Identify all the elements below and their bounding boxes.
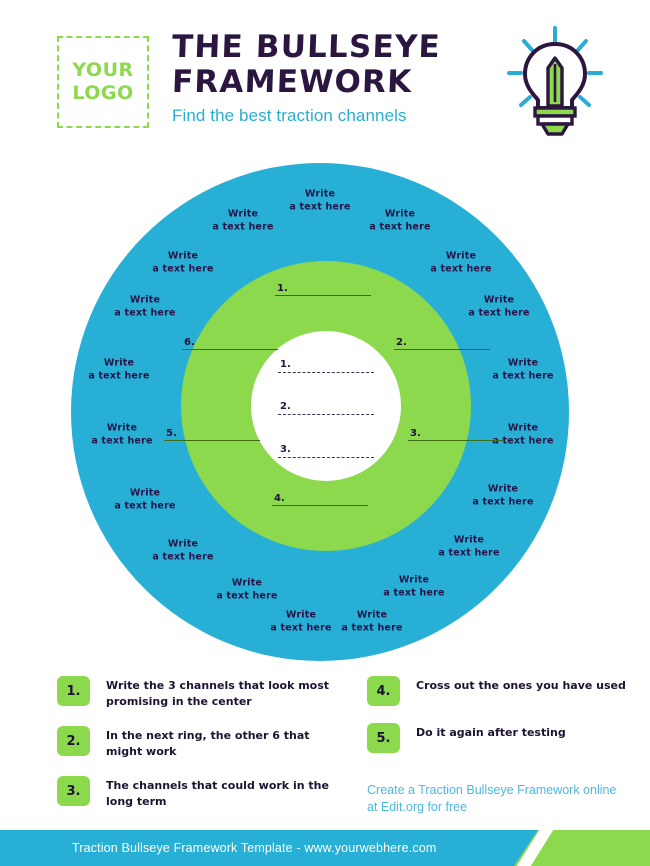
- legend-item-text: In the next ring, the other 6 that might…: [106, 726, 347, 759]
- page-footer: Traction Bullseye Framework Template - w…: [0, 830, 650, 866]
- outer-ring-label-line-1: Write: [228, 208, 258, 219]
- middle-ring-slot-number: 5.: [164, 428, 260, 439]
- outer-ring-label-line-1: Write: [130, 487, 160, 498]
- legend-item: 5.Do it again after testing: [367, 723, 650, 753]
- legend-item-text: Do it again after testing: [416, 723, 566, 741]
- legend: 1.Write the 3 channels that look most pr…: [0, 676, 650, 816]
- outer-ring-label[interactable]: Writea text here: [472, 483, 533, 508]
- outer-ring-label-line-1: Write: [286, 609, 316, 620]
- outer-ring-label[interactable]: Writea text here: [383, 574, 444, 599]
- outer-ring-label-line-2: a text here: [91, 435, 152, 448]
- outer-ring-label-line-1: Write: [484, 294, 514, 305]
- legend-item-badge: 4.: [367, 676, 400, 706]
- legend-item-text: The channels that could work in the long…: [106, 776, 347, 809]
- legend-item-badge: 1.: [57, 676, 90, 706]
- legend-item: 4.Cross out the ones you have used: [367, 676, 650, 706]
- outer-ring-label-line-1: Write: [488, 483, 518, 494]
- middle-ring-slot-line[interactable]: [182, 349, 278, 350]
- outer-ring-label-line-1: Write: [168, 538, 198, 549]
- legend-column-right: 4.Cross out the ones you have used5.Do i…: [367, 676, 650, 770]
- page-title-line-2: FRAMEWORK: [171, 65, 492, 100]
- outer-ring-label-line-1: Write: [385, 208, 415, 219]
- promo-link[interactable]: Create a Traction Bullseye Framework onl…: [367, 782, 617, 815]
- outer-ring-label-line-1: Write: [107, 422, 137, 433]
- outer-ring-label[interactable]: Writea text here: [492, 357, 553, 382]
- legend-item-text: Cross out the ones you have used: [416, 676, 626, 694]
- outer-ring-label-line-2: a text here: [114, 500, 175, 513]
- title-block: THE BULLSEYE FRAMEWORK Find the best tra…: [172, 30, 492, 126]
- center-slot-line[interactable]: [278, 372, 374, 373]
- middle-ring-slot-number: 6.: [182, 337, 278, 348]
- outer-ring-label-line-2: a text here: [152, 263, 213, 276]
- outer-ring-label-line-1: Write: [104, 357, 134, 368]
- center-slot-number: 3.: [278, 444, 374, 455]
- outer-ring-label-line-2: a text here: [383, 587, 444, 600]
- center-slot[interactable]: 2.: [278, 401, 374, 415]
- outer-ring-label[interactable]: Writea text here: [438, 534, 499, 559]
- legend-item-badge: 5.: [367, 723, 400, 753]
- center-slot-line[interactable]: [278, 457, 374, 458]
- outer-ring-label[interactable]: Writea text here: [114, 487, 175, 512]
- outer-ring-label[interactable]: Writea text here: [91, 422, 152, 447]
- legend-item-badge: 3.: [57, 776, 90, 806]
- outer-ring-label-line-1: Write: [454, 534, 484, 545]
- middle-ring-slot-number: 2.: [394, 337, 490, 348]
- outer-ring-label[interactable]: Writea text here: [212, 208, 273, 233]
- outer-ring-label[interactable]: Writea text here: [88, 357, 149, 382]
- middle-ring-slot-number: 3.: [408, 428, 504, 439]
- outer-ring-label[interactable]: Writea text here: [369, 208, 430, 233]
- legend-item: 3.The channels that could work in the lo…: [57, 776, 347, 809]
- outer-ring-label-line-1: Write: [399, 574, 429, 585]
- outer-ring-label-line-2: a text here: [472, 496, 533, 509]
- outer-ring-label-line-2: a text here: [341, 622, 402, 635]
- middle-ring-slot[interactable]: 1.: [275, 283, 371, 296]
- outer-ring-label-line-2: a text here: [492, 370, 553, 383]
- outer-ring-label-line-2: a text here: [468, 307, 529, 320]
- outer-ring-label-line-2: a text here: [369, 221, 430, 234]
- legend-column-left: 1.Write the 3 channels that look most pr…: [57, 676, 347, 827]
- outer-ring-label-line-1: Write: [168, 250, 198, 261]
- middle-ring-slot[interactable]: 4.: [272, 493, 368, 506]
- lightbulb-pencil-icon: [497, 24, 613, 140]
- page-title-line-1: THE BULLSEYE: [171, 30, 492, 65]
- outer-ring-label-line-1: Write: [508, 422, 538, 433]
- middle-ring-slot-line[interactable]: [408, 440, 504, 441]
- center-slot-line[interactable]: [278, 414, 374, 415]
- outer-ring-label-line-1: Write: [130, 294, 160, 305]
- legend-item: 2.In the next ring, the other 6 that mig…: [57, 726, 347, 759]
- outer-ring-label[interactable]: Writea text here: [152, 250, 213, 275]
- outer-ring-label[interactable]: Writea text here: [216, 577, 277, 602]
- outer-ring-label-line-1: Write: [446, 250, 476, 261]
- outer-ring-label-line-2: a text here: [289, 201, 350, 214]
- outer-ring-label[interactable]: Writea text here: [114, 294, 175, 319]
- logo-line-2: LOGO: [72, 82, 133, 105]
- outer-ring-label-line-2: a text here: [270, 622, 331, 635]
- legend-item-text: Write the 3 channels that look most prom…: [106, 676, 347, 709]
- outer-ring-label[interactable]: Writea text here: [152, 538, 213, 563]
- middle-ring-slot[interactable]: 6.: [182, 337, 278, 350]
- footer-text: Traction Bullseye Framework Template - w…: [72, 830, 436, 866]
- outer-ring-label-line-1: Write: [305, 188, 335, 199]
- outer-ring-label-line-1: Write: [232, 577, 262, 588]
- outer-ring-label-line-2: a text here: [212, 221, 273, 234]
- center-slot-number: 2.: [278, 401, 374, 412]
- middle-ring-slot-number: 4.: [272, 493, 368, 504]
- legend-item-badge: 2.: [57, 726, 90, 756]
- outer-ring-label[interactable]: Writea text here: [270, 609, 331, 634]
- center-slot-number: 1.: [278, 359, 374, 370]
- middle-ring-slot-line[interactable]: [394, 349, 490, 350]
- outer-ring-label-line-2: a text here: [216, 590, 277, 603]
- logo-line-1: YOUR: [72, 59, 133, 82]
- middle-ring-slot-line[interactable]: [275, 295, 371, 296]
- legend-item: 1.Write the 3 channels that look most pr…: [57, 676, 347, 709]
- outer-ring-label-line-2: a text here: [88, 370, 149, 383]
- logo-placeholder[interactable]: YOUR LOGO: [57, 36, 149, 128]
- middle-ring-slot[interactable]: 5.: [164, 428, 260, 441]
- center-slot[interactable]: 3.: [278, 444, 374, 458]
- outer-ring-label-line-2: a text here: [152, 551, 213, 564]
- outer-ring-label-line-2: a text here: [430, 263, 491, 276]
- middle-ring-slot-line[interactable]: [272, 505, 368, 506]
- middle-ring-slot-number: 1.: [275, 283, 371, 294]
- page-subtitle: Find the best traction channels: [172, 106, 492, 126]
- outer-ring-label[interactable]: Writea text here: [341, 609, 402, 634]
- outer-ring-label-line-1: Write: [357, 609, 387, 620]
- outer-ring-label-line-1: Write: [508, 357, 538, 368]
- outer-ring-label[interactable]: Writea text here: [289, 188, 350, 213]
- outer-ring-label[interactable]: Writea text here: [430, 250, 491, 275]
- outer-ring-label-line-2: a text here: [438, 547, 499, 560]
- middle-ring-slot[interactable]: 3.: [408, 428, 504, 441]
- middle-ring-slot[interactable]: 2.: [394, 337, 490, 350]
- outer-ring-label[interactable]: Writea text here: [468, 294, 529, 319]
- middle-ring-slot-line[interactable]: [164, 440, 260, 441]
- page-header: YOUR LOGO THE BULLSEYE FRAMEWORK Find th…: [0, 0, 650, 152]
- outer-ring-label-line-2: a text here: [114, 307, 175, 320]
- center-slot[interactable]: 1.: [278, 359, 374, 373]
- bullseye-diagram: Writea text hereWritea text hereWritea t…: [71, 163, 579, 661]
